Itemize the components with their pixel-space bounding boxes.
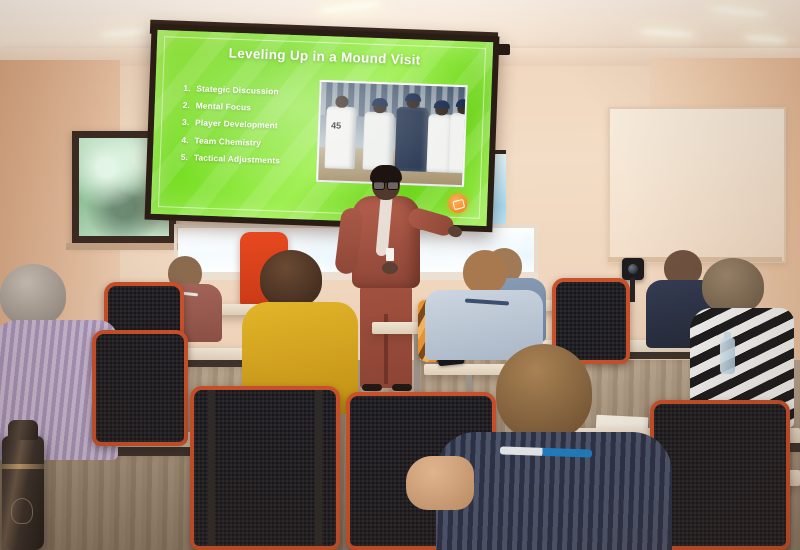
bullet-number: 4. <box>181 134 194 144</box>
attendee-hair <box>260 250 322 308</box>
bullet-number: 1. <box>183 83 196 93</box>
attendee-hair <box>702 258 764 314</box>
photo-player-cap <box>405 93 421 102</box>
bullet-label: Player Development <box>195 118 278 131</box>
presenter-hand <box>382 262 398 274</box>
attendee-head <box>496 344 592 440</box>
presenter-lanyard-badge <box>386 248 394 261</box>
presenter-trousers <box>360 284 412 388</box>
photo-player-head <box>335 96 348 108</box>
whiteboard <box>608 107 786 263</box>
bullet-number: 3. <box>182 117 195 127</box>
chair[interactable] <box>190 386 340 550</box>
glasses-icon <box>373 181 399 188</box>
chair-frame-post <box>315 390 322 546</box>
bullet-label: Team Chemistry <box>194 135 261 147</box>
attendee-clasped-hands <box>406 456 474 510</box>
conference-room-scene: Leveling Up in a Mound Visit 1.Stategic … <box>0 0 800 550</box>
camera-icon <box>622 258 644 280</box>
camera-mount-arm <box>630 278 635 302</box>
photo-player: 45 <box>325 106 357 169</box>
presenter-shoe <box>392 384 412 391</box>
bottle-cap[interactable] <box>8 420 38 440</box>
photo-jersey-number: 45 <box>331 121 341 131</box>
bottle-logo-icon <box>11 498 33 524</box>
list-item: 2.Mental Focus <box>183 100 283 114</box>
bullet-label: Stategic Discussion <box>196 83 279 96</box>
photo-player-coach <box>394 107 428 172</box>
photo-player-cap <box>434 100 450 109</box>
window-sill <box>66 243 182 250</box>
bullet-number: 5. <box>181 152 194 162</box>
photo-player-cap <box>456 99 468 108</box>
bullet-label: Tactical Adjustments <box>194 152 281 165</box>
chair-frame-post <box>208 390 215 546</box>
list-item: 3.Player Development <box>182 117 282 131</box>
chair[interactable] <box>92 330 188 446</box>
clear-water-bottle[interactable] <box>720 338 735 374</box>
photo-player-cap <box>372 98 388 107</box>
photo-player <box>362 112 394 171</box>
list-item: 4.Team Chemistry <box>181 134 281 148</box>
bullet-number: 2. <box>183 100 196 110</box>
insulated-water-bottle[interactable] <box>2 436 44 550</box>
chair-backrest <box>92 330 188 446</box>
bullet-label: Mental Focus <box>196 101 252 113</box>
slide-bullet-list: 1.Stategic Discussion 2.Mental Focus 3.P… <box>180 83 282 173</box>
attendee-hair <box>0 264 66 326</box>
list-item: 5.Tactical Adjustments <box>181 152 281 166</box>
attendee-head <box>463 250 507 294</box>
presenter-shoe <box>362 384 382 391</box>
bottle-accent-ring <box>2 464 44 469</box>
